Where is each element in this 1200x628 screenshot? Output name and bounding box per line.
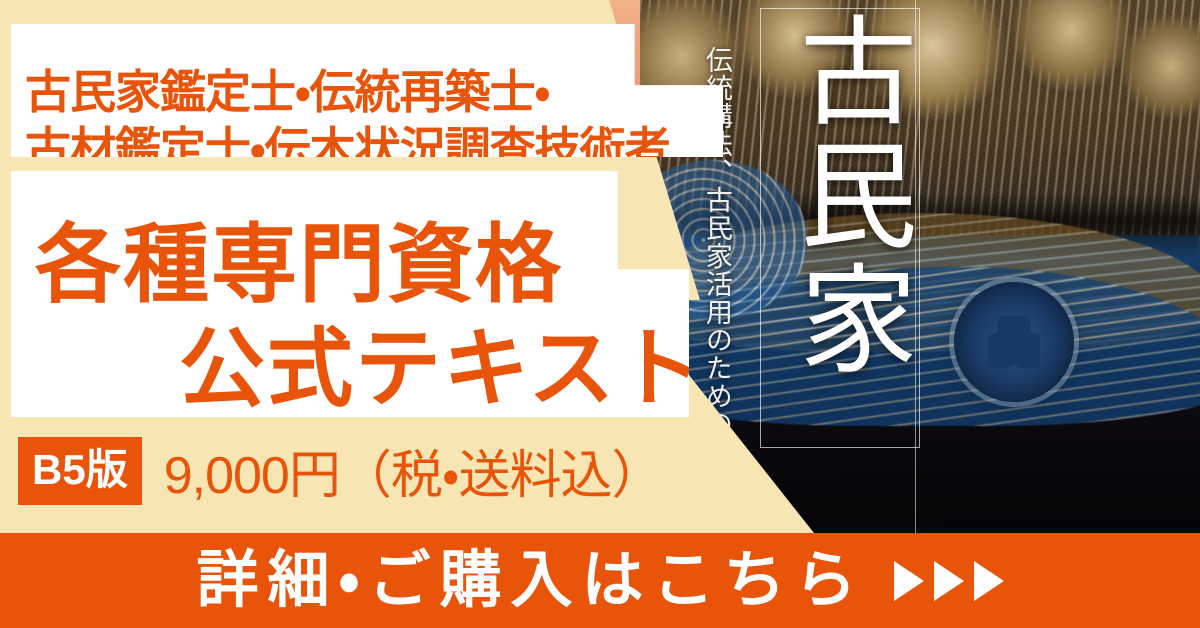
triangle-right-icon [894,561,924,601]
price-row: B5版 9,000円（税・送料込） [18,433,663,508]
price-amount: 9,000円（税・送料込） [164,433,663,508]
triangle-right-icon [974,561,1004,601]
cta-label: 詳細・ご購入はこちら [196,550,865,612]
family-crest-medallion [954,282,1074,402]
cta-arrow-group [894,561,1004,601]
promo-banner: 古民家 伝統構法、古民家活用のための調査と再生の 古民家鑑定士・伝統再築士・ 古… [0,0,1200,628]
qualifications-panel: 古民家鑑定士・伝統再築士・ 古材鑑定士・伝木状況調査技術者 [11,24,723,157]
triangle-right-icon [934,561,964,601]
main-title-panel: 各種専門資格 公式テキスト [11,171,689,417]
cta-button[interactable]: 詳細・ご購入はこちら [0,533,1200,628]
main-title-line-2: 公式テキスト [179,298,704,423]
size-badge: B5版 [18,437,142,505]
cover-title: 古民家 [772,10,912,382]
